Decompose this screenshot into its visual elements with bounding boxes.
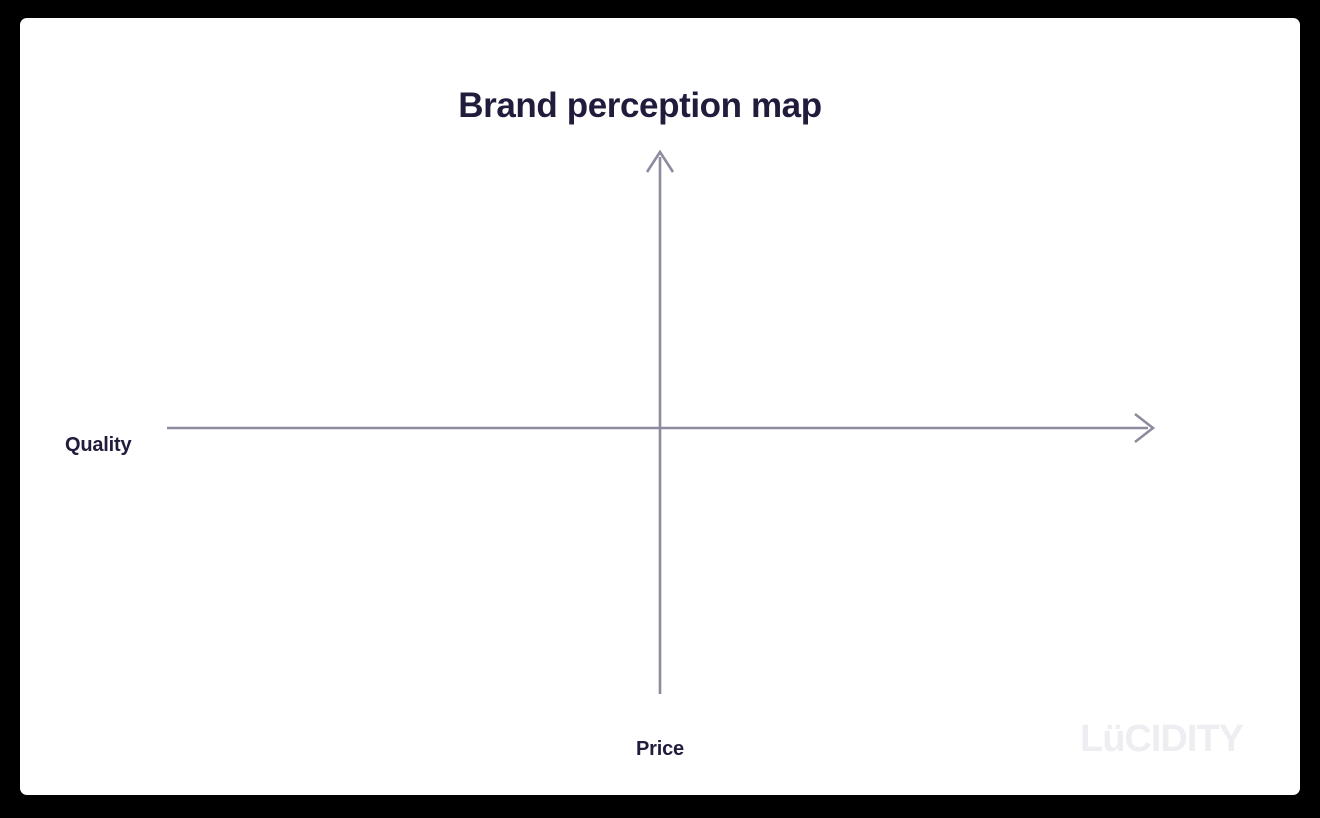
perception-map-plot [20,18,1300,795]
screenshot-root: Brand perception map Quality Price LüCID… [0,0,1320,818]
y-axis-group [647,152,673,694]
y-axis-label: Quality [65,434,131,457]
slide-card: Brand perception map Quality Price LüCID… [20,18,1300,795]
lucidity-logo: LüCIDITY [1080,718,1243,761]
x-axis-label: Price [560,738,760,761]
